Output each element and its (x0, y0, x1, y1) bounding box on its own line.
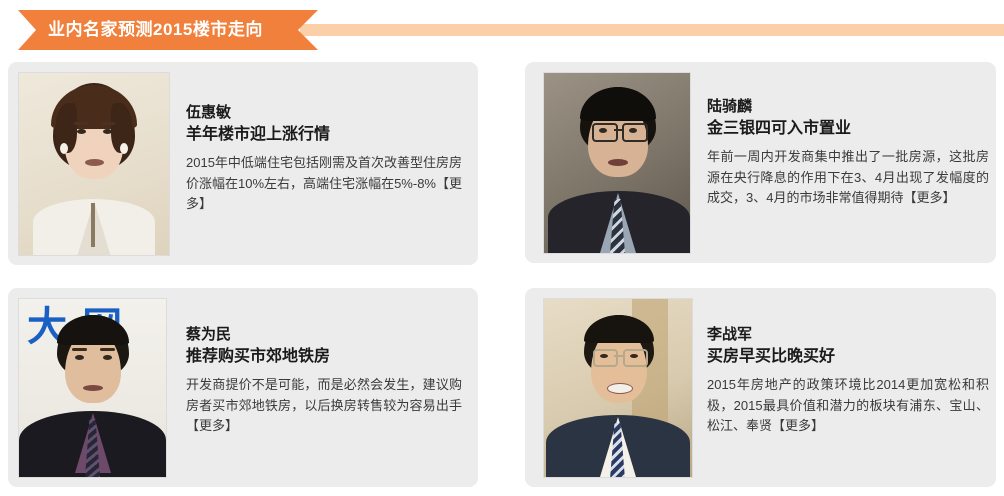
banner-tail-bar (300, 24, 1004, 36)
avatar-lu-qilin (543, 72, 691, 254)
card-headline[interactable]: 推荐购买市郊地铁房 (186, 345, 462, 368)
person-name: 李战军 (707, 324, 989, 345)
expert-card-li-zhanjun[interactable]: 李战军 买房早买比晚买好 2015年房地产的政策环境比2014更加宽松和积极，2… (525, 288, 996, 487)
person-name: 陆骑麟 (707, 96, 989, 117)
card-summary[interactable]: 年前一周内开发商集中推出了一批房源，这批房源在央行降息的作用下在3、4月出现了发… (707, 147, 989, 209)
card-summary[interactable]: 2015年中低端住宅包括刚需及首次改善型住房房价涨幅在10%左右，高端住宅涨幅在… (186, 153, 462, 215)
card-text-wu-huimin: 伍惠敏 羊年楼市迎上涨行情 2015年中低端住宅包括刚需及首次改善型住房房价涨幅… (186, 102, 462, 215)
card-text-li-zhanjun: 李战军 买房早买比晚买好 2015年房地产的政策环境比2014更加宽松和积极，2… (707, 324, 989, 437)
card-headline[interactable]: 羊年楼市迎上涨行情 (186, 123, 462, 146)
avatar-li-zhanjun (543, 298, 693, 478)
page-title: 业内名家预测2015楼市走向 (48, 10, 263, 50)
card-headline[interactable]: 买房早买比晚买好 (707, 345, 989, 368)
card-summary[interactable]: 2015年房地产的政策环境比2014更加宽松和积极，2015最具价值和潜力的板块… (707, 375, 989, 437)
expert-card-wu-huimin[interactable]: 伍惠敏 羊年楼市迎上涨行情 2015年中低端住宅包括刚需及首次改善型住房房价涨幅… (8, 62, 478, 265)
expert-card-lu-qilin[interactable]: 陆骑麟 金三银四可入市置业 年前一周内开发商集中推出了一批房源，这批房源在央行降… (525, 62, 996, 263)
person-name: 蔡为民 (186, 324, 462, 345)
expert-card-cai-weimin[interactable]: 大 网 蔡为民 推荐购买市郊地铁房 开发商提价不是可能，而是必然会发生，建议购房… (8, 288, 478, 487)
card-headline[interactable]: 金三银四可入市置业 (707, 117, 989, 140)
card-text-cai-weimin: 蔡为民 推荐购买市郊地铁房 开发商提价不是可能，而是必然会发生，建议购房者买市郊… (186, 324, 462, 437)
avatar-cai-weimin: 大 网 (18, 298, 167, 478)
page-header-banner: 业内名家预测2015楼市走向 (0, 10, 1004, 50)
avatar-wu-huimin (18, 72, 170, 256)
card-summary[interactable]: 开发商提价不是可能，而是必然会发生，建议购房者买市郊地铁房，以后换房转售较为容易… (186, 375, 462, 437)
card-text-lu-qilin: 陆骑麟 金三银四可入市置业 年前一周内开发商集中推出了一批房源，这批房源在央行降… (707, 96, 989, 209)
person-name: 伍惠敏 (186, 102, 462, 123)
